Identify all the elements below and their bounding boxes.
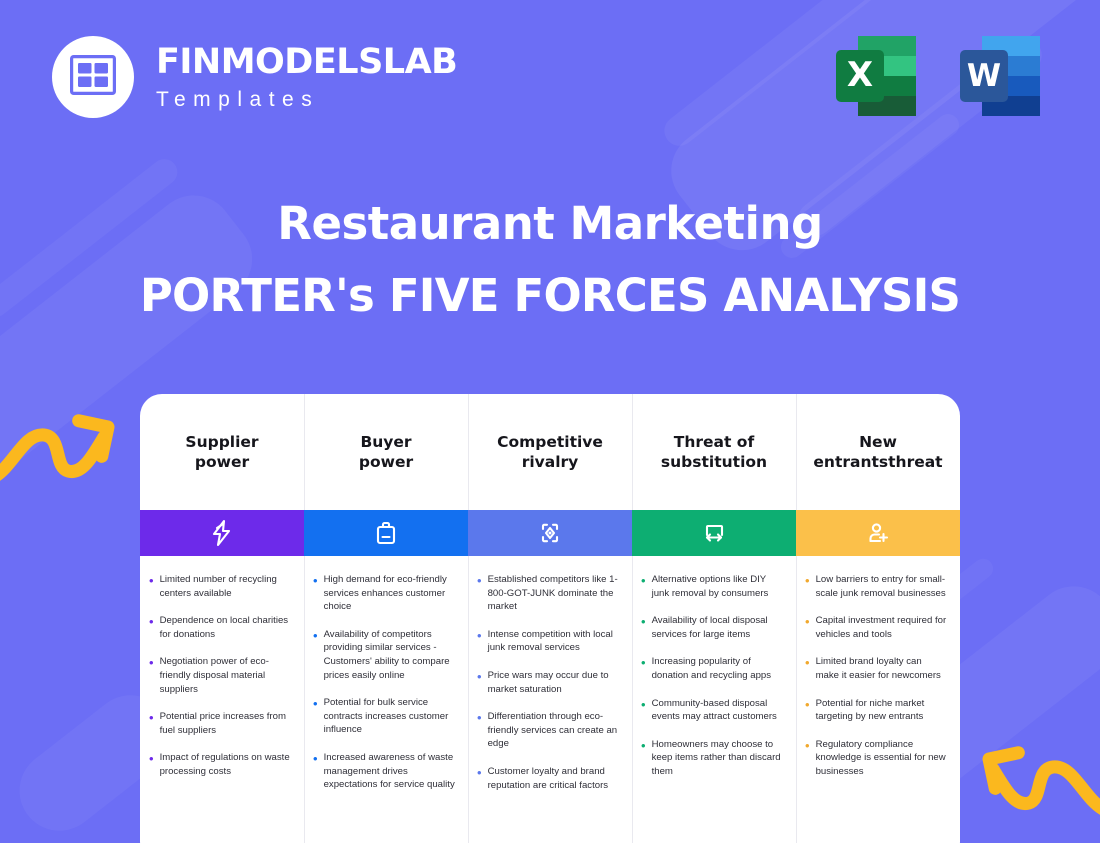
bullet-text: Regulatory compliance knowledge is essen… xyxy=(816,738,947,779)
bullet-marker: • xyxy=(805,572,810,590)
bullet-marker: • xyxy=(313,750,318,768)
list-item: •Potential for niche market targeting by… xyxy=(805,697,947,724)
bullet-marker: • xyxy=(149,654,154,672)
list-item: •Impact of regulations on waste processi… xyxy=(149,751,291,778)
page-header: FINMODELSLAB Templates X W xyxy=(0,0,1100,150)
list-item: •Potential for bulk service contracts in… xyxy=(313,696,455,737)
list-item: •Community-based disposal events may att… xyxy=(641,697,783,724)
add-user-icon xyxy=(864,519,892,547)
target-focus-icon xyxy=(537,519,563,547)
bullet-marker: • xyxy=(313,627,318,645)
bullet-text: Low barriers to entry for small-scale ju… xyxy=(816,573,947,600)
list-item: •High demand for eco-friendly services e… xyxy=(313,573,455,614)
bullet-marker: • xyxy=(477,709,482,727)
bullet-text: Availability of competitors providing si… xyxy=(324,628,455,682)
shopping-bag-icon xyxy=(373,519,399,547)
bullet-text: Intense competition with local junk remo… xyxy=(488,628,619,655)
bullet-marker: • xyxy=(149,572,154,590)
force-column-supplier-power: Supplier power •Limited number of recycl… xyxy=(140,394,304,843)
bullet-text: Customer loyalty and brand reputation ar… xyxy=(488,765,619,792)
office-badges: X W xyxy=(828,28,1048,124)
bullet-text: Potential for bulk service contracts inc… xyxy=(324,696,455,737)
bullet-text: Capital investment required for vehicles… xyxy=(816,614,947,641)
force-column-buyer-power: Buyer power •High demand for eco-friendl… xyxy=(304,394,468,843)
bullet-marker: • xyxy=(641,613,646,631)
list-item: •Availability of competitors providing s… xyxy=(313,628,455,682)
bullet-marker: • xyxy=(477,627,482,645)
list-item: •Established competitors like 1-800-GOT-… xyxy=(477,573,619,614)
bullet-text: Availability of local disposal services … xyxy=(652,614,783,641)
grid-squares-icon xyxy=(70,55,116,100)
icon-band xyxy=(796,510,960,556)
bullet-text: Limited number of recycling centers avai… xyxy=(160,573,291,600)
porters-five-forces-card: Supplier power •Limited number of recycl… xyxy=(140,394,960,843)
column-title: Threat of substitution xyxy=(661,432,767,473)
column-header: Threat of substitution xyxy=(632,394,796,510)
list-item: •Dependence on local charities for donat… xyxy=(149,614,291,641)
bullet-text: Increasing popularity of donation and re… xyxy=(652,655,783,682)
bullet-text: Alternative options like DIY junk remova… xyxy=(652,573,783,600)
icon-band xyxy=(468,510,632,556)
lightning-bolt-icon xyxy=(209,519,235,547)
list-item: •Alternative options like DIY junk remov… xyxy=(641,573,783,600)
bullet-marker: • xyxy=(805,654,810,672)
word-icon[interactable]: W xyxy=(952,28,1048,124)
list-item: •Differentiation through eco-friendly se… xyxy=(477,710,619,751)
list-item: •Customer loyalty and brand reputation a… xyxy=(477,765,619,792)
bullet-marker: • xyxy=(477,764,482,782)
logo-circle xyxy=(52,36,134,118)
bullet-marker: • xyxy=(641,572,646,590)
bullet-text: Established competitors like 1-800-GOT-J… xyxy=(488,573,619,614)
squiggly-arrow-up-right-icon xyxy=(0,405,122,505)
bullet-marker: • xyxy=(149,750,154,768)
bullet-text: Differentiation through eco-friendly ser… xyxy=(488,710,619,751)
bullet-marker: • xyxy=(641,654,646,672)
bullet-text: Potential for niche market targeting by … xyxy=(816,697,947,724)
bullet-text: Impact of regulations on waste processin… xyxy=(160,751,291,778)
bullet-marker: • xyxy=(149,709,154,727)
bullet-text: Homeowners may choose to keep items rath… xyxy=(652,738,783,779)
bullet-text: Limited brand loyalty can make it easier… xyxy=(816,655,947,682)
bullet-list: •Established competitors like 1-800-GOT-… xyxy=(468,556,632,843)
list-item: •Low barriers to entry for small-scale j… xyxy=(805,573,947,600)
bullet-marker: • xyxy=(477,668,482,686)
bullet-marker: • xyxy=(149,613,154,631)
bullet-marker: • xyxy=(477,572,482,590)
bullet-text: Dependence on local charities for donati… xyxy=(160,614,291,641)
bullet-list: •High demand for eco-friendly services e… xyxy=(304,556,468,843)
list-item: •Increased awareness of waste management… xyxy=(313,751,455,792)
list-item: •Homeowners may choose to keep items rat… xyxy=(641,738,783,779)
list-item: •Price wars may occur due to market satu… xyxy=(477,669,619,696)
column-title: New entrantsthreat xyxy=(813,432,942,473)
squiggly-arrow-down-left-icon xyxy=(965,737,1100,840)
list-item: •Availability of local disposal services… xyxy=(641,614,783,641)
list-item: •Negotiation power of eco-friendly dispo… xyxy=(149,655,291,696)
svg-text:W: W xyxy=(967,58,1001,94)
bullet-list: •Low barriers to entry for small-scale j… xyxy=(796,556,960,843)
icon-band xyxy=(304,510,468,556)
bullet-marker: • xyxy=(805,613,810,631)
column-title: Buyer power xyxy=(359,432,413,473)
bullet-text: Community-based disposal events may attr… xyxy=(652,697,783,724)
brand-subtitle: Templates xyxy=(156,89,457,110)
list-item: •Capital investment required for vehicle… xyxy=(805,614,947,641)
column-header: New entrantsthreat xyxy=(796,394,960,510)
force-column-new-entrants-threat: New entrantsthreat •Low barriers to entr… xyxy=(796,394,960,843)
column-header: Competitive rivalry xyxy=(468,394,632,510)
bullet-marker: • xyxy=(805,696,810,714)
bullet-marker: • xyxy=(641,696,646,714)
bullet-list: •Alternative options like DIY junk remov… xyxy=(632,556,796,843)
brand-title: FINMODELSLAB xyxy=(156,45,457,80)
list-item: •Potential price increases from fuel sup… xyxy=(149,710,291,737)
force-column-competitive-rivalry: Competitive rivalry •Established competi… xyxy=(468,394,632,843)
exchange-arrows-icon xyxy=(700,519,728,547)
list-item: •Regulatory compliance knowledge is esse… xyxy=(805,738,947,779)
bullet-text: High demand for eco-friendly services en… xyxy=(324,573,455,614)
column-header: Supplier power xyxy=(140,394,304,510)
force-column-threat-of-substitution: Threat of substitution •Alternative opti… xyxy=(632,394,796,843)
excel-icon[interactable]: X xyxy=(828,28,924,124)
icon-band xyxy=(140,510,304,556)
bullet-text: Increased awareness of waste management … xyxy=(324,751,455,792)
bullet-marker: • xyxy=(805,737,810,755)
bullet-marker: • xyxy=(641,737,646,755)
brand-logo[interactable]: FINMODELSLAB Templates xyxy=(52,36,457,118)
icon-band xyxy=(632,510,796,556)
title-block: Restaurant Marketing PORTER's FIVE FORCE… xyxy=(0,196,1100,325)
list-item: •Limited brand loyalty can make it easie… xyxy=(805,655,947,682)
page-title: Restaurant Marketing xyxy=(0,196,1100,252)
page-subtitle: PORTER's FIVE FORCES ANALYSIS xyxy=(0,268,1100,324)
list-item: •Limited number of recycling centers ava… xyxy=(149,573,291,600)
bullet-text: Price wars may occur due to market satur… xyxy=(488,669,619,696)
column-header: Buyer power xyxy=(304,394,468,510)
column-title: Competitive rivalry xyxy=(497,432,603,473)
bullet-text: Negotiation power of eco-friendly dispos… xyxy=(160,655,291,696)
column-title: Supplier power xyxy=(185,432,258,473)
bullet-marker: • xyxy=(313,695,318,713)
list-item: •Intense competition with local junk rem… xyxy=(477,628,619,655)
bullet-list: •Limited number of recycling centers ava… xyxy=(140,556,304,843)
svg-text:X: X xyxy=(847,55,873,95)
bullet-text: Potential price increases from fuel supp… xyxy=(160,710,291,737)
bullet-marker: • xyxy=(313,572,318,590)
forces-columns: Supplier power •Limited number of recycl… xyxy=(140,394,960,843)
list-item: •Increasing popularity of donation and r… xyxy=(641,655,783,682)
